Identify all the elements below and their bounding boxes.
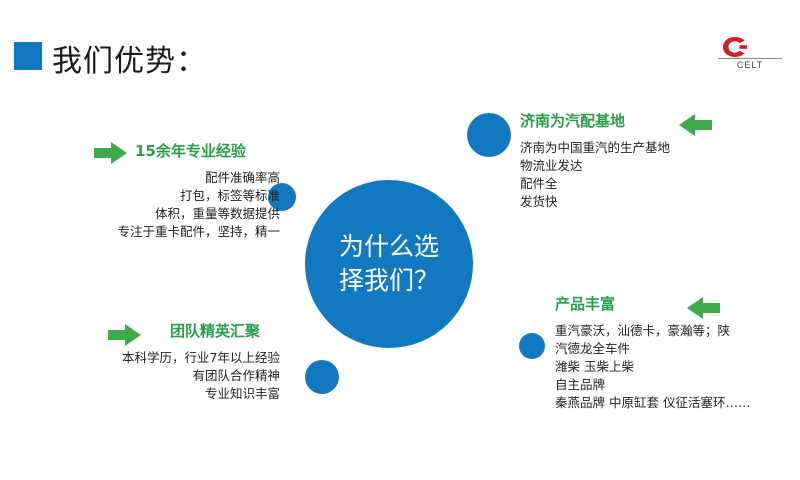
feature-heading-team: 团队精英汇聚 — [170, 320, 280, 341]
dot-base — [467, 113, 511, 157]
center-circle: 为什么选 择我们？ — [305, 180, 473, 348]
feature-block-base: 济南为汽配基地 济南为中国重汽的生产基地 物流业发达 配件全 发货快 — [520, 110, 790, 211]
logo-divider — [718, 58, 782, 59]
page-title: 我们优势： — [52, 36, 207, 80]
feature-block-team: 团队精英汇聚 本科学历，行业7年以上经验 有团队合作精神 专业知识丰富 — [20, 320, 280, 403]
feature-body-team: 本科学历，行业7年以上经验 有团队合作精神 专业知识丰富 — [20, 349, 280, 403]
feature-heading-products: 产品丰富 — [555, 293, 800, 314]
feature-heading-experience: 15余年专业经验 — [135, 140, 280, 161]
feature-block-products: 产品丰富 重汽豪沃，汕德卡，豪瀚等；陕 汽德龙全车件 潍柴 玉柴上柴 自主品牌 … — [555, 293, 800, 412]
feature-body-base: 济南为中国重汽的生产基地 物流业发达 配件全 发货快 — [520, 139, 790, 211]
slide-canvas: 我们优势： CELT 为什么选 择我们？ 15余年专业经验 配件准确率高 打包，… — [0, 0, 800, 480]
feature-body-experience: 配件准确率高 打包，标签等标准 体积，重量等数据提供 专注于重卡配件，坚持，精一 — [20, 169, 280, 241]
logo-wordmark: CELT — [718, 60, 782, 70]
feature-body-products: 重汽豪沃，汕德卡，豪瀚等；陕 汽德龙全车件 潍柴 玉柴上柴 自主品牌 秦燕品牌 … — [555, 322, 800, 412]
dot-team — [305, 360, 339, 394]
celt-logo-icon — [722, 36, 748, 58]
feature-heading-base: 济南为汽配基地 — [520, 110, 790, 131]
brand-logo: CELT — [718, 36, 782, 78]
dot-products — [519, 333, 545, 359]
feature-block-experience: 15余年专业经验 配件准确率高 打包，标签等标准 体积，重量等数据提供 专注于重… — [20, 140, 280, 241]
center-circle-label: 为什么选 择我们？ — [339, 230, 439, 298]
title-bullet-square — [14, 42, 42, 70]
